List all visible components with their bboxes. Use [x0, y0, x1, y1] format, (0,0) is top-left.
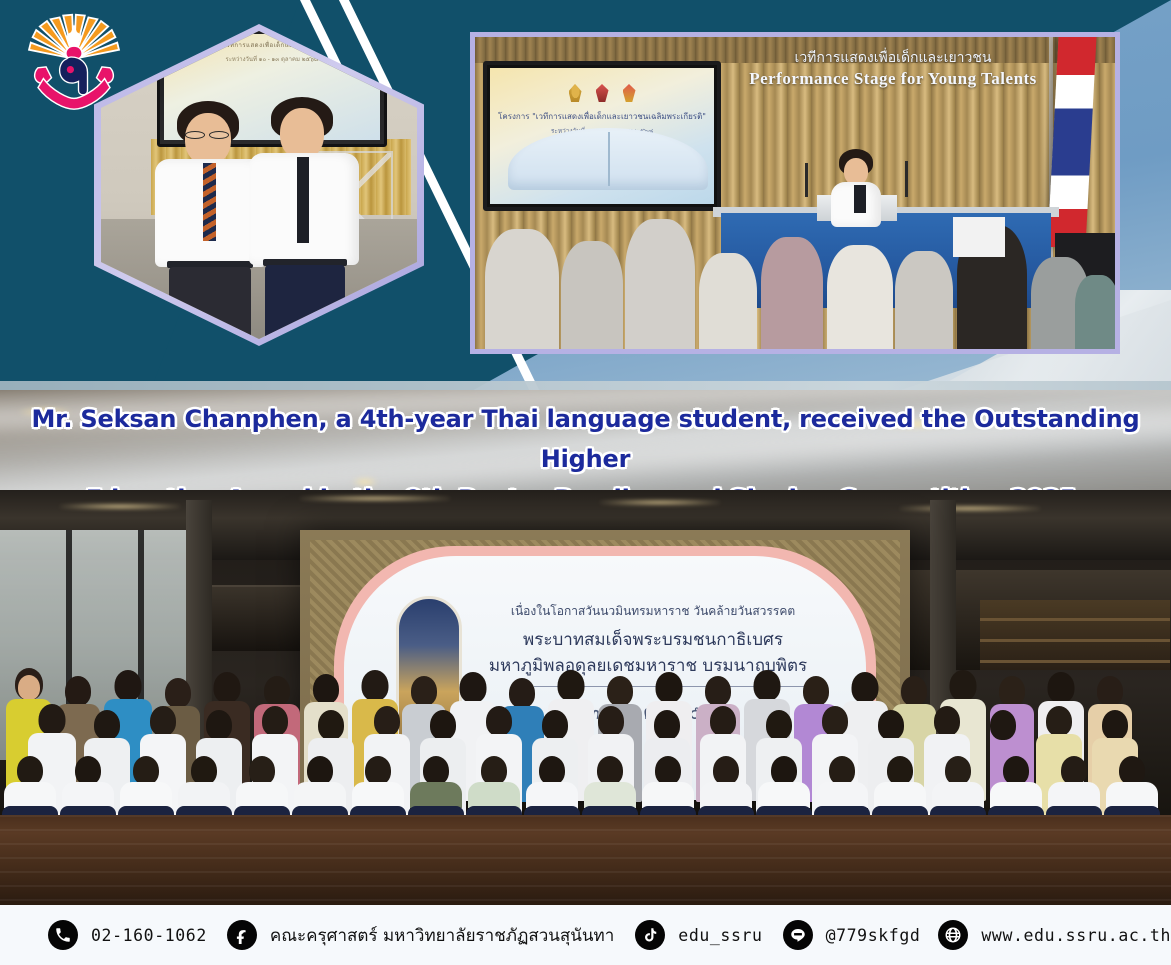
header-divider [0, 381, 1171, 390]
footer-label-phone: 02-160-1062 [91, 926, 207, 945]
phone-icon [48, 920, 78, 950]
caption-line-1: Mr. Seksan Chanphen, a 4th-year Thai lan… [31, 405, 1139, 473]
hexagon-photo-content: เวทีการแสดงเพื่อเด็กและเยาวชน ระหว่างวัน… [101, 31, 417, 339]
footer-item-line[interactable]: @779skfgd [783, 920, 921, 950]
footer-item-phone[interactable]: 02-160-1062 [48, 920, 207, 950]
footer-item-tiktok[interactable]: edu_ssru [635, 920, 762, 950]
projector-screen: โครงการ "เวทีการแสดงเพื่อเด็กและเยาวชนเฉ… [483, 61, 721, 211]
stage-banner-thai: เวทีการแสดงเพื่อเด็กและเยาวชน [713, 47, 1073, 69]
royal-crest-icon [569, 84, 582, 102]
wooden-floor [0, 815, 1171, 905]
audience-rows [475, 213, 1115, 349]
ssru-faculty-of-education-logo [18, 12, 130, 120]
microphone-left [805, 163, 808, 197]
header-section: เวทีการแสดงเพื่อเด็กและเยาวชน Performanc… [0, 0, 1171, 390]
stage-photo: เวทีการแสดงเพื่อเด็กและเยาวชน Performanc… [470, 32, 1120, 354]
ministry-crest-icon [596, 84, 609, 102]
open-book-graphic [508, 128, 708, 190]
person-student [249, 97, 367, 339]
footer-label-facebook: คณะครุศาสตร์ มหาวิทยาลัยราชภัฏสวนสุนันทา [270, 922, 614, 949]
microphone-right [905, 161, 908, 197]
footer-label-line: @779skfgd [826, 926, 921, 945]
university-crest-icon [623, 84, 636, 102]
globe-icon [938, 920, 968, 950]
stage-banner-english: Performance Stage for Young Talents [683, 69, 1103, 89]
line-icon [783, 920, 813, 950]
crest-row [490, 84, 714, 102]
contact-footer: 02-160-1062 คณะครุศาสตร์ มหาวิทยาลัยราชภ… [0, 905, 1171, 965]
facebook-icon [227, 920, 257, 950]
hex-screen-line1: เวทีการแสดงเพื่อเด็กและเยาวชน [164, 40, 380, 50]
poster-root: เวทีการแสดงเพื่อเด็กและเยาวชน Performanc… [0, 0, 1171, 965]
footer-label-tiktok: edu_ssru [678, 926, 762, 945]
page-title: Mr. Seksan Chanphen, a 4th-year Thai lan… [0, 399, 1171, 498]
footer-item-facebook[interactable]: คณะครุศาสตร์ มหาวิทยาลัยราชภัฏสวนสุนันทา [227, 920, 614, 950]
projector-title-line1: โครงการ "เวทีการแสดงเพื่อเด็กและเยาวชนเฉ… [490, 110, 714, 123]
caption-banner: Mr. Seksan Chanphen, a 4th-year Thai lan… [0, 390, 1171, 498]
hexagon-photo-two-men: เวทีการแสดงเพื่อเด็กและเยาวชน ระหว่างวัน… [94, 24, 424, 346]
footer-item-website[interactable]: www.edu.ssru.ac.th [938, 920, 1171, 950]
projector-content: โครงการ "เวทีการแสดงเพื่อเด็กและเยาวชนเฉ… [490, 68, 714, 204]
group-photo-auditorium: เนื่องในโอกาสวันนวมินทรมหาราช วันคล้ายวั… [0, 490, 1171, 905]
tiktok-icon [635, 920, 665, 950]
footer-label-website: www.edu.ssru.ac.th [981, 926, 1171, 945]
